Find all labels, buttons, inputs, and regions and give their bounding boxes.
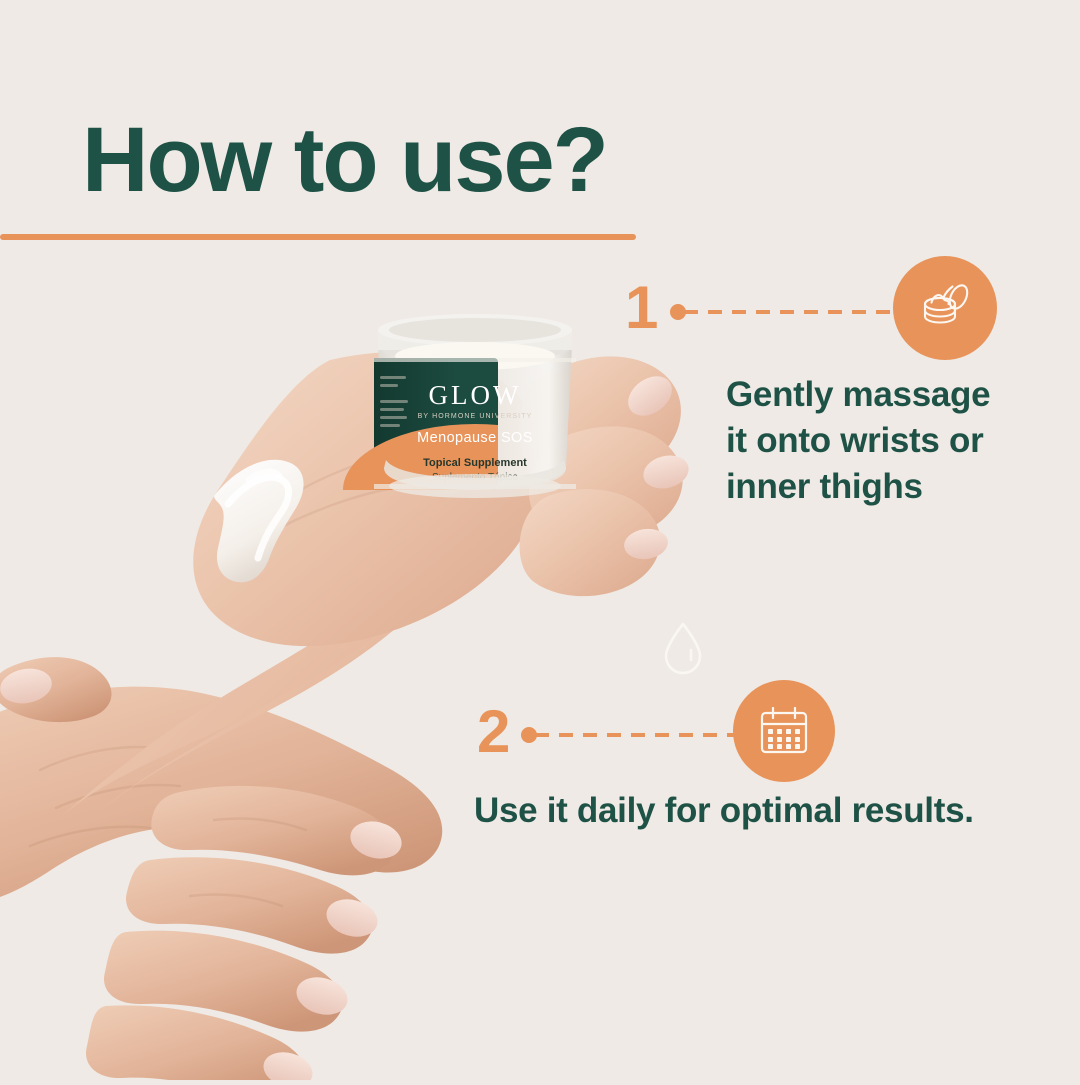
step-1-text: Gently massage it onto wrists or inner t… — [726, 372, 1026, 511]
label-product-name: Menopause SOS — [417, 430, 533, 446]
title-underline — [0, 234, 636, 240]
water-drop-icon — [657, 617, 709, 679]
step-1-text-line-3: inner thighs — [726, 464, 1026, 510]
step-1-text-line-2: it onto wrists or — [726, 418, 1026, 464]
page-title: How to use? — [82, 114, 607, 206]
step-1-connector-dash — [684, 310, 902, 314]
step-2-connector-dash — [535, 733, 753, 737]
step-1-connector — [670, 297, 902, 319]
calendar-icon — [755, 702, 813, 760]
water-drop-decoration — [657, 617, 709, 684]
cream-jar-icon — [914, 277, 976, 339]
step-1-text-line-1: Gently massage — [726, 372, 1026, 418]
step-2-connector — [521, 720, 753, 742]
step-2-number: 2 — [477, 702, 510, 762]
product-photo: GLOW BY HORMONE UNIVERSITY Menopause SOS… — [0, 300, 700, 1080]
step-1-number: 1 — [625, 278, 658, 338]
label-descriptor-en: Topical Supplement — [423, 457, 527, 469]
step-1-icon-badge[interactable] — [893, 256, 997, 360]
infographic-canvas: GLOW BY HORMONE UNIVERSITY Menopause SOS… — [0, 0, 1080, 1080]
step-2-text-line-1: Use it daily for optimal results. — [474, 788, 1014, 834]
label-brand-subtitle: BY HORMONE UNIVERSITY — [418, 413, 533, 420]
label-brand: GLOW — [429, 380, 522, 410]
step-2-icon-badge[interactable] — [733, 680, 835, 782]
step-2-text: Use it daily for optimal results. — [474, 788, 1014, 834]
